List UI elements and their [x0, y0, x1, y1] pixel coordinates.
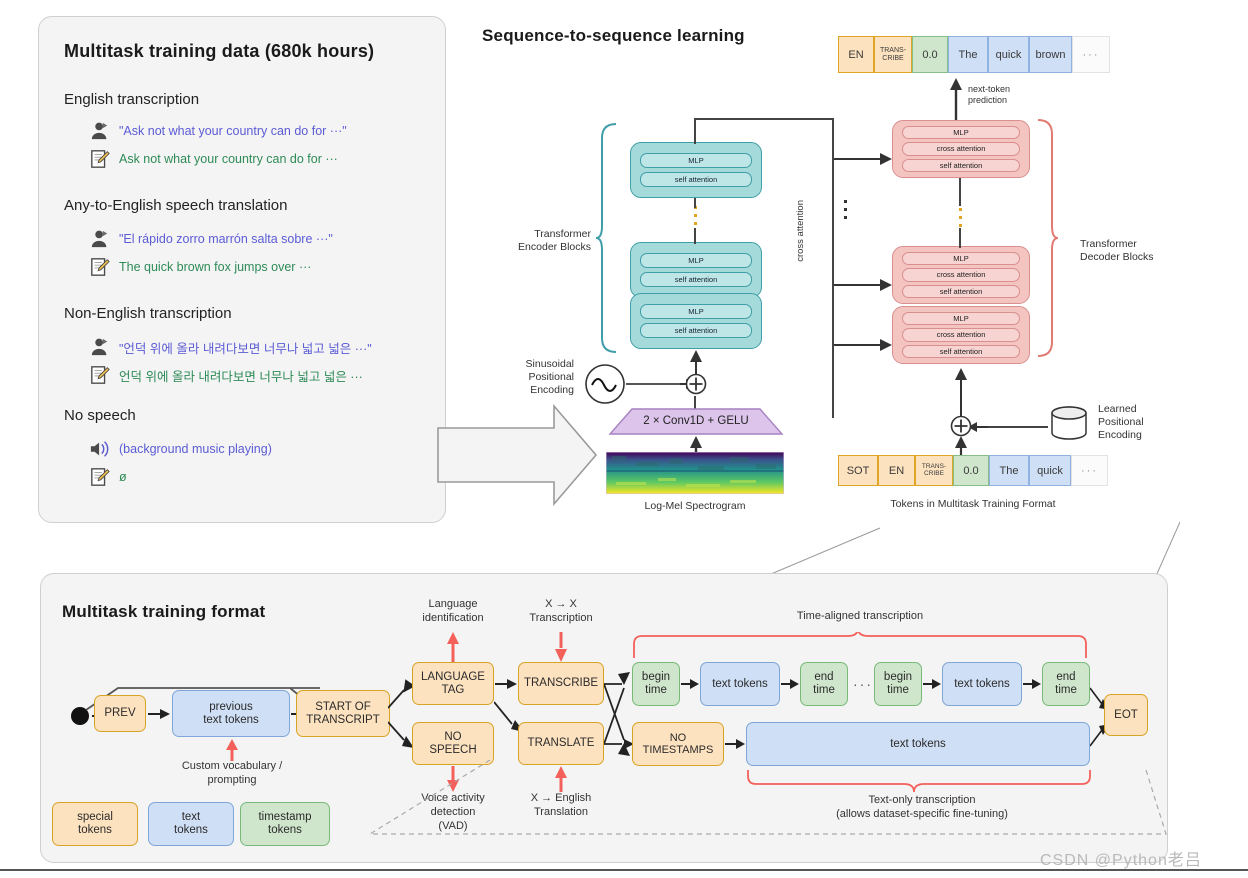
circle-plus-icon [684, 372, 708, 396]
example-speech-row: "Ask not what your country can do for ··… [89, 121, 347, 141]
database-cylinder-icon [1048, 405, 1090, 445]
encoder-mlp: MLP [640, 304, 752, 319]
transcript-text: 언덕 위에 올라 내려다보면 너무나 넓고 넓은 ··· [119, 366, 363, 385]
example-transcript-row: Ask not what your country can do for ··· [89, 149, 338, 169]
section-heading-english-transcription: English transcription [64, 91, 199, 108]
section-heading-no-speech: No speech [64, 407, 136, 424]
cross-attention-label: cross attention [795, 200, 807, 262]
decoder-cross-attention: cross attention [902, 142, 1020, 155]
encoder-block-top: MLP self attention [630, 142, 762, 198]
decoder-bracket [1036, 118, 1058, 368]
node-transcribe[interactable]: TRANSCRIBE [518, 662, 604, 705]
token-timestamp-0: 0.0 [912, 36, 948, 73]
decoder-mlp: MLP [902, 126, 1020, 139]
encoder-trunk-line [694, 228, 696, 244]
decoder-block-top: MLP cross attention self attention [892, 120, 1030, 178]
note-pencil-icon [89, 467, 111, 487]
bottom-rule [0, 869, 1248, 871]
edge-arrow-icon [148, 706, 172, 722]
text-only-dashed-outline [330, 760, 1170, 852]
cross-attention-dots-icon [844, 200, 847, 219]
speech-text: (background music playing) [119, 442, 272, 456]
encoder-vertical-dots-icon [694, 206, 697, 225]
example-speech-row: "El rápido zorro marrón salta sobre ···" [89, 229, 333, 249]
input-token-strip: SOT EN TRANS- CRIBE 0.0 The quick ··· [838, 455, 1108, 486]
decoder-cross-attention: cross attention [902, 268, 1020, 281]
node-begin-time-2[interactable]: begin time [874, 662, 922, 706]
example-speech-row: (background music playing) [89, 439, 272, 459]
token-the: The [989, 455, 1029, 486]
token-transcribe: TRANS- CRIBE [874, 36, 912, 73]
decoder-mlp: MLP [902, 312, 1020, 325]
token-timestamp-0: 0.0 [953, 455, 989, 486]
language-identification-arrow-icon [445, 632, 461, 662]
speech-text: "언덕 위에 올라 내려다보면 너무나 넓고 넓은 ···" [119, 338, 372, 357]
token-transcribe: TRANS- CRIBE [915, 455, 953, 486]
ellipsis-separator: ··· [850, 676, 876, 694]
decoder-block-mid: MLP cross attention self attention [892, 246, 1030, 304]
encoder-trunk-line [694, 198, 696, 208]
speech-text: "El rápido zorro marrón salta sobre ···" [119, 232, 333, 246]
learned-positional-encoding-label: Learned Positional Encoding [1098, 403, 1188, 442]
encoder-block-bottom: MLP self attention [630, 293, 762, 349]
left-card-title: Multitask training data (680k hours) [64, 41, 374, 62]
sine-wave-icon [584, 363, 626, 405]
seq2seq-title: Sequence-to-sequence learning [482, 26, 745, 46]
legend-text-tokens: text tokens [148, 802, 234, 846]
decoder-vertical-dots-icon [959, 208, 962, 227]
decoder-self-attention: self attention [902, 159, 1020, 172]
circle-plus-icon [949, 414, 973, 438]
node-end-time-2[interactable]: end time [1042, 662, 1090, 706]
example-transcript-row: The quick brown fox jumps over ··· [89, 257, 311, 277]
edge-arrow-icon [725, 736, 747, 752]
custom-vocab-arrow-icon [224, 739, 240, 761]
encoder-output-line [694, 118, 696, 144]
log-mel-spectrogram-image [606, 452, 784, 494]
watermark: CSDN @Python老吕 [1040, 846, 1202, 870]
sinusoidal-positional-encoding-label: Sinusoidal Positional Encoding [496, 358, 574, 397]
token-ellipsis: ··· [1072, 36, 1110, 73]
cross-attention-arrow-icon [834, 152, 894, 166]
token-quick: quick [988, 36, 1029, 73]
token-en: EN [838, 36, 874, 73]
encoder-bracket [596, 122, 618, 362]
encoder-input-arrow-icon [688, 348, 704, 374]
multitask-training-data-card: Multitask training data (680k hours) Eng… [38, 16, 446, 523]
decoder-mlp: MLP [902, 252, 1020, 265]
node-prev[interactable]: PREV [94, 695, 146, 732]
encoder-self-attention: self attention [640, 323, 752, 338]
token-ellipsis: ··· [1071, 455, 1108, 486]
node-end-time-1[interactable]: end time [800, 662, 848, 706]
token-quick: quick [1029, 455, 1071, 486]
x-to-x-arrow-icon [553, 632, 569, 662]
decoder-label: Transformer Decoder Blocks [1080, 238, 1180, 264]
node-text-tokens-2[interactable]: text tokens [942, 662, 1022, 706]
x-to-x-transcription-annotation: X → X Transcription [503, 598, 619, 626]
token-sot: SOT [838, 455, 878, 486]
cross-attention-arrow-icon [834, 338, 894, 352]
node-previous-text-tokens[interactable]: previous text tokens [172, 690, 290, 737]
decoder-block-bottom: MLP cross attention self attention [892, 306, 1030, 364]
format-panel-title: Multitask training format [62, 602, 265, 622]
decoder-cross-attention: cross attention [902, 328, 1020, 341]
encoder-label: Transformer Encoder Blocks [495, 228, 591, 254]
flow-arrow-icon [436, 398, 601, 513]
legend-special-tokens: special tokens [52, 802, 138, 846]
node-start-of-transcript[interactable]: START OF TRANSCRIPT [296, 690, 390, 737]
transcript-text: The quick brown fox jumps over ··· [119, 260, 311, 274]
next-token-prediction-label: next-token prediction [968, 84, 1010, 107]
node-no-speech[interactable]: NO SPEECH [412, 722, 494, 765]
edge-arrow-icon [923, 676, 943, 692]
time-aligned-brace [630, 632, 1092, 660]
edge-arrow-icon [781, 676, 801, 692]
encoder-self-attention: self attention [640, 272, 752, 287]
encoder-mlp: MLP [640, 253, 752, 268]
edge-arrow-icon [1023, 676, 1043, 692]
decoder-input-arrow-icon [953, 366, 969, 416]
encoder-mlp: MLP [640, 153, 752, 168]
speech-text: "Ask not what your country can do for ··… [119, 124, 347, 138]
speaker-person-icon [89, 121, 111, 141]
next-token-arrow-icon [948, 76, 964, 124]
legend-timestamp-tokens: timestamp tokens [240, 802, 330, 846]
sine-connector-line [626, 383, 684, 385]
note-pencil-icon [89, 365, 111, 385]
edge-arrow-icon [495, 676, 519, 692]
time-aligned-annotation: Time-aligned transcription [700, 610, 1020, 624]
speaker-person-icon [89, 337, 111, 357]
language-identification-annotation: Language identification [395, 598, 511, 626]
transcript-text: ø [119, 470, 127, 484]
conv1d-gelu-label: 2 × Conv1D + GELU [608, 414, 784, 428]
output-token-strip: EN TRANS- CRIBE 0.0 The quick brown ··· [838, 36, 1110, 73]
note-pencil-icon [89, 149, 111, 169]
edge-arrow-icon [681, 676, 701, 692]
node-translate[interactable]: TRANSLATE [518, 722, 604, 765]
note-pencil-icon [89, 257, 111, 277]
encoder-output-line [694, 118, 834, 120]
section-heading-speech-translation: Any-to-English speech translation [64, 197, 287, 214]
token-the: The [948, 36, 988, 73]
section-heading-non-english-transcription: Non-English transcription [64, 305, 232, 322]
encoder-self-attention: self attention [640, 172, 752, 187]
custom-vocabulary-annotation: Custom vocabulary / prompting [152, 760, 312, 788]
node-language-tag[interactable]: LANGUAGE TAG [412, 662, 494, 705]
example-transcript-row: ø [89, 467, 127, 487]
loudspeaker-icon [89, 439, 111, 459]
node-begin-time-1[interactable]: begin time [632, 662, 680, 706]
decoder-self-attention: self attention [902, 285, 1020, 298]
cross-attention-arrow-icon [834, 278, 894, 292]
encoder-block-mid: MLP self attention [630, 242, 762, 298]
decoder-self-attention: self attention [902, 345, 1020, 358]
node-text-tokens-1[interactable]: text tokens [700, 662, 780, 706]
token-en: EN [878, 455, 915, 486]
decoder-trunk-line [959, 228, 961, 248]
decoder-trunk-line [959, 178, 961, 206]
example-speech-row: "언덕 위에 올라 내려다보면 너무나 넓고 넓은 ···" [89, 337, 372, 357]
token-brown: brown [1029, 36, 1072, 73]
speaker-person-icon [89, 229, 111, 249]
node-eot[interactable]: EOT [1104, 694, 1148, 736]
example-transcript-row: 언덕 위에 올라 내려다보면 너무나 넓고 넓은 ··· [89, 365, 363, 385]
transcript-text: Ask not what your country can do for ··· [119, 152, 338, 166]
